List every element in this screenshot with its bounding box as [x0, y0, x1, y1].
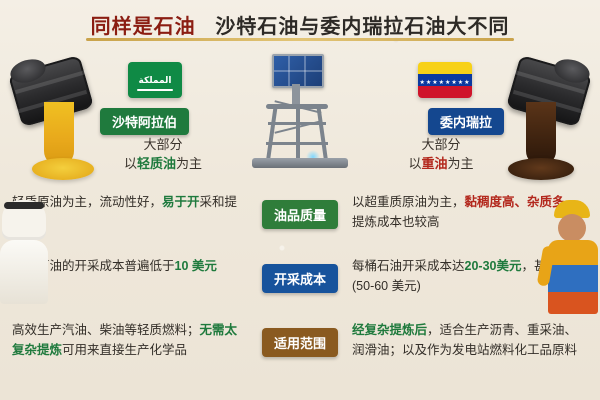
page-title: 同样是石油 沙特石油与委内瑞拉石油大不同 [85, 10, 516, 39]
row-quality-left-highlight: 易于开 [162, 195, 200, 209]
summary-saudi-highlight: 轻质油 [137, 156, 176, 171]
summary-saudi: 大部分 以轻质油为主 [88, 136, 238, 174]
saudi-flag-script: المملكة [139, 75, 172, 86]
summary-venezuela-suffix: 为主 [448, 156, 474, 171]
comparison-row-cost: 开采成本 每桶石油的开采成本普遍低于10 美元 每桶石油开采成本达20-30美元… [0, 256, 600, 316]
venezuela-flag-icon: ★★★★★★★★ [418, 62, 472, 98]
derrick-frame [260, 104, 334, 160]
summary-saudi-suffix: 为主 [176, 156, 202, 171]
page-title-part2: 沙特石油与委内瑞拉石油大不同 [215, 16, 509, 38]
oil-barrel-heavy-crude-icon [500, 58, 592, 124]
row-usage-right-text: 经复杂提炼后，适合生产沥青、重采油、润滑油；以及作为发电站燃料化工品原料 [352, 320, 588, 361]
row-usage-right-highlight: 经复杂提炼后 [352, 323, 427, 337]
comparison-row-usage: 适用范围 高效生产汽油、柴油等轻质燃料；无需太复杂提炼可用来直接生产化学品 经复… [0, 320, 600, 380]
saudi-man-illustration [0, 200, 52, 304]
summary-saudi-line1: 大部分 [143, 137, 182, 152]
oil-barrel-light-crude-icon [8, 58, 100, 124]
solar-panel-icon [272, 54, 324, 88]
row-quality-right-highlight1: 黏稠度高、 [465, 195, 528, 209]
row-usage-left-seg1: 高效生产汽油、柴油等轻质燃料； [12, 323, 200, 337]
oil-pumpjack-icon [248, 54, 356, 180]
comparison-row-quality: 油品质量 轻质原油为主，流动性好，易于开采和提炼 以超重质原油为主，黏稠度高、杂… [0, 192, 600, 252]
row-cost-right-highlight2: 美元 [497, 259, 522, 273]
row-tag-usage: 适用范围 [262, 328, 338, 357]
row-quality-right-seg1: 以超重质原油为主， [352, 195, 465, 209]
row-cost-right-highlight: 20-30 [465, 259, 497, 273]
saudi-arabia-flag-icon: المملكة [128, 62, 182, 98]
summary-venezuela-highlight: 重油 [421, 156, 447, 171]
country-label-saudi: 沙特阿拉伯 [100, 108, 189, 135]
summary-saudi-prefix: 以 [124, 156, 137, 171]
row-usage-left-text: 高效生产汽油、柴油等轻质燃料；无需太复杂提炼可用来直接生产化学品 [12, 320, 248, 361]
top-illustration-band: المملكة ★★★★★★★★ 沙特阿拉伯 委内瑞拉 大部分 以轻质油为主 大… [0, 46, 600, 186]
row-tag-quality: 油品质量 [262, 200, 338, 229]
comparison-rows: 油品质量 轻质原油为主，流动性好，易于开采和提炼 以超重质原油为主，黏稠度高、杂… [0, 192, 600, 396]
summary-venezuela-prefix: 以 [408, 156, 421, 171]
row-usage-left-seg2: 可用来直接生产化学品 [62, 343, 187, 357]
title-wrapper: 同样是石油 沙特石油与委内瑞拉石油大不同 [0, 10, 600, 39]
row-cost-left-highlight: 10 美元 [175, 259, 217, 273]
summary-venezuela: 大部分 以重油为主 [366, 136, 516, 174]
page-title-part1: 同样是石油 [91, 16, 196, 38]
row-cost-right-seg1: 每桶石油开采成本达 [352, 259, 465, 273]
summary-venezuela-line1: 大部分 [421, 137, 460, 152]
row-quality-right-seg2: 提炼成本也较高 [352, 215, 440, 229]
venezuela-flag-stars: ★★★★★★★★ [418, 79, 472, 86]
row-tag-cost: 开采成本 [262, 264, 338, 293]
country-label-venezuela: 委内瑞拉 [428, 108, 504, 135]
venezuela-worker-illustration [544, 198, 600, 314]
infographic-page: 同样是石油 沙特石油与委内瑞拉石油大不同 المملكة ★★★ [0, 0, 600, 400]
title-underline [86, 38, 514, 41]
